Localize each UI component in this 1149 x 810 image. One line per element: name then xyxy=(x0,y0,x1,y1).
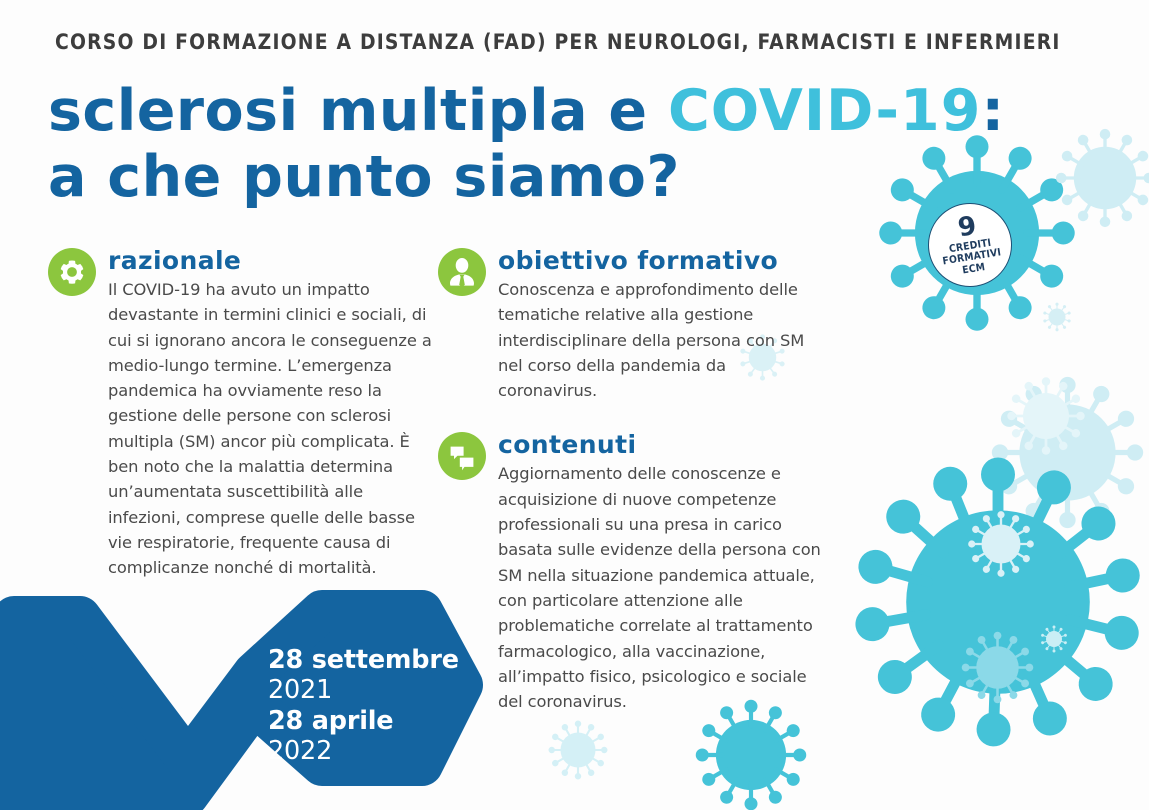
section-razionale: razionale Il COVID-19 ha avuto un impatt… xyxy=(48,246,433,581)
virus-graphic-giant-bottom-right xyxy=(828,432,1149,772)
virus-graphic-pale-bottom-center xyxy=(543,715,613,785)
title-line-2: a che punto siamo? xyxy=(48,144,1005,210)
course-eyebrow-label: CORSO DI FORMAZIONE A DISTANZA (FAD) PER… xyxy=(55,30,1061,55)
virus-graphic-tiny-upper-right xyxy=(1040,300,1074,334)
gear-icon xyxy=(48,248,96,296)
title-line-1-text: sclerosi multipla e xyxy=(48,78,668,144)
column-left: razionale Il COVID-19 ha avuto un impatt… xyxy=(48,246,433,581)
date-end-year: 2022 xyxy=(268,736,459,767)
section-contenuti: contenuti Aggiornamento delle conoscenze… xyxy=(438,430,828,714)
section-text-razionale: Il COVID-19 ha avuto un impatto devastan… xyxy=(108,277,438,581)
virus-graphic-inner-light-lower xyxy=(955,625,1040,710)
credits-badge: 9 CREDITI FORMATIVI ECM xyxy=(922,197,1018,293)
course-dates: 28 settembre 2021 28 aprile 2022 xyxy=(268,645,459,767)
virus-graphic-inner-light-upper xyxy=(962,505,1040,583)
professional-person-icon xyxy=(438,248,486,296)
section-razionale-body: razionale Il COVID-19 ha avuto un impatt… xyxy=(48,246,433,581)
date-start-year: 2021 xyxy=(268,675,459,706)
section-title-razionale: razionale xyxy=(108,246,433,276)
section-text-obiettivo-formativo: Conoscenza e approfondimento delle temat… xyxy=(498,277,828,403)
section-obiettivo-formativo: obiettivo formativo Conoscenza e approfo… xyxy=(438,246,828,403)
credits-badge-number: 9 xyxy=(956,214,978,242)
section-title-contenuti: contenuti xyxy=(498,430,828,460)
title-colon: : xyxy=(981,78,1004,144)
date-start-day: 28 settembre xyxy=(268,645,459,675)
virus-graphic-dot-inner-right xyxy=(1038,623,1070,655)
section-text-contenuti: Aggiornamento delle conoscenze e acquisi… xyxy=(498,461,828,714)
date-end-day: 28 aprile xyxy=(268,706,459,736)
virus-graphic-small-mid-right xyxy=(1000,370,1092,462)
section-obiettivo-body: obiettivo formativo Conoscenza e approfo… xyxy=(438,246,828,403)
speech-bubbles-icon xyxy=(438,432,486,480)
section-title-obiettivo-formativo: obiettivo formativo xyxy=(498,246,828,276)
title-line-1: sclerosi multipla e COVID-19: xyxy=(48,78,1005,144)
title-covid-highlight: COVID-19 xyxy=(668,78,981,144)
section-contenuti-body: contenuti Aggiornamento delle conoscenze… xyxy=(438,430,828,714)
virus-graphic-pale-top-corner xyxy=(1045,118,1149,238)
virus-graphic-pale-mid-right xyxy=(975,360,1149,545)
credits-badge-text: CREDITI FORMATIVI ECM xyxy=(940,236,1004,279)
column-right: obiettivo formativo Conoscenza e approfo… xyxy=(438,246,828,714)
page-title: sclerosi multipla e COVID-19: a che punt… xyxy=(48,78,1005,210)
poster-canvas: CORSO DI FORMAZIONE A DISTANZA (FAD) PER… xyxy=(0,0,1149,810)
